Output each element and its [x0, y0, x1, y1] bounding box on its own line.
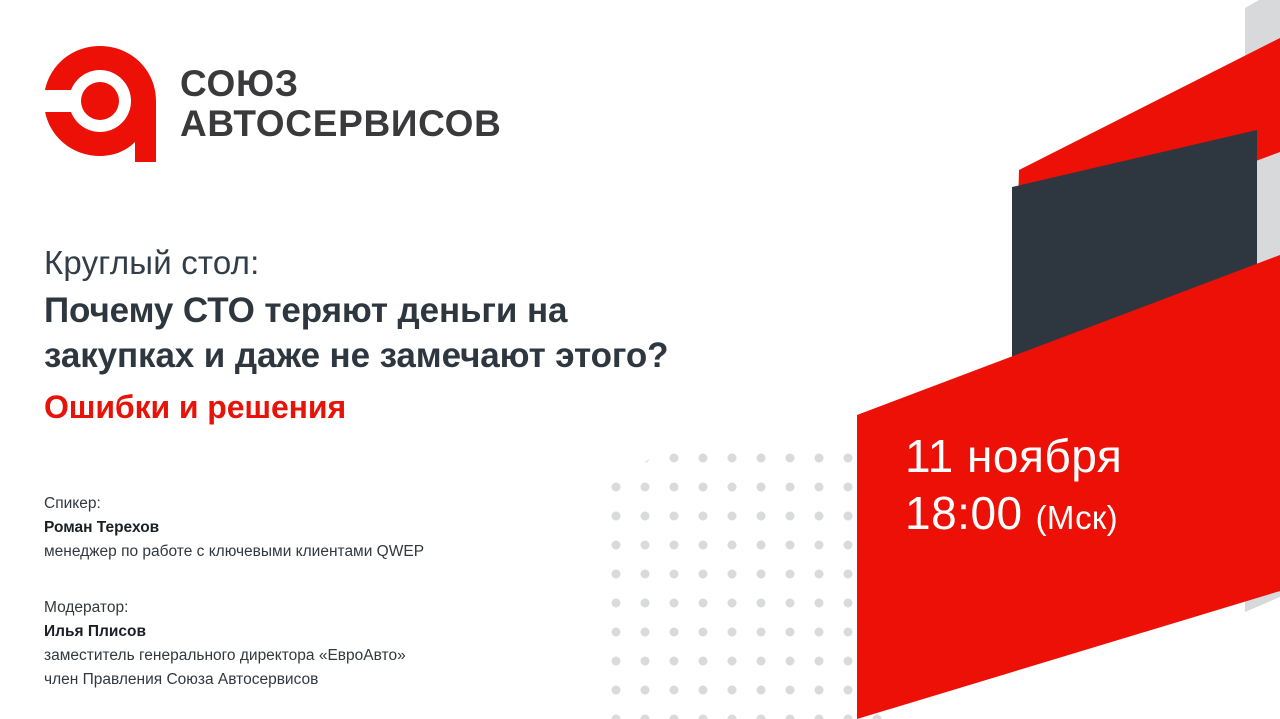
- headline-block: Круглый стол: Почему СТО теряют деньги н…: [44, 243, 904, 428]
- participant-title: заместитель генерального директора «Евро…: [44, 644, 604, 668]
- union-autoservice-a-mark: [42, 44, 158, 164]
- participant-title-secondary: член Правления Союза Автосервисов: [44, 668, 604, 692]
- logo-line-1: СОЮЗ: [180, 64, 502, 104]
- event-kicker: Круглый стол:: [44, 243, 904, 283]
- participant-title: менеджер по работе с ключевыми клиентами…: [44, 540, 604, 564]
- event-title-line-2: закупках и даже не замечают этого?: [44, 334, 904, 379]
- event-date: 11 ноября: [905, 428, 1245, 484]
- participant-role: Спикер:: [44, 492, 604, 516]
- event-time: 18:00: [905, 488, 1023, 539]
- participant-name: Роман Терехов: [44, 516, 604, 540]
- event-time-row: 18:00 (Мск): [905, 488, 1245, 539]
- event-timezone: (Мск): [1036, 500, 1118, 536]
- participant-role: Модератор:: [44, 596, 604, 620]
- participants-block: Спикер: Роман Терехов менеджер по работе…: [44, 492, 604, 692]
- participant-moderator: Модератор: Илья Плисов заместитель генер…: [44, 596, 604, 692]
- red-top-band: [1017, 38, 1280, 250]
- brand-logo: СОЮЗ АВТОСЕРВИСОВ: [42, 44, 502, 164]
- event-title-line-1: Почему СТО теряют деньги на: [44, 289, 904, 334]
- participant-name: Илья Плисов: [44, 620, 604, 644]
- participant-speaker: Спикер: Роман Терехов менеджер по работе…: [44, 492, 604, 564]
- dark-slate-block: [1012, 130, 1257, 446]
- event-subtitle: Ошибки и решения: [44, 387, 904, 429]
- gray-vertical-strip: [1245, 0, 1280, 612]
- logo-wordmark: СОЮЗ АВТОСЕРВИСОВ: [180, 64, 502, 144]
- logo-line-2: АВТОСЕРВИСОВ: [180, 104, 502, 144]
- dot-grid-pattern: [612, 454, 882, 719]
- event-datetime-badge: 11 ноября 18:00 (Мск): [905, 428, 1245, 539]
- webinar-poster: СОЮЗ АВТОСЕРВИСОВ Круглый стол: Почему С…: [0, 0, 1280, 719]
